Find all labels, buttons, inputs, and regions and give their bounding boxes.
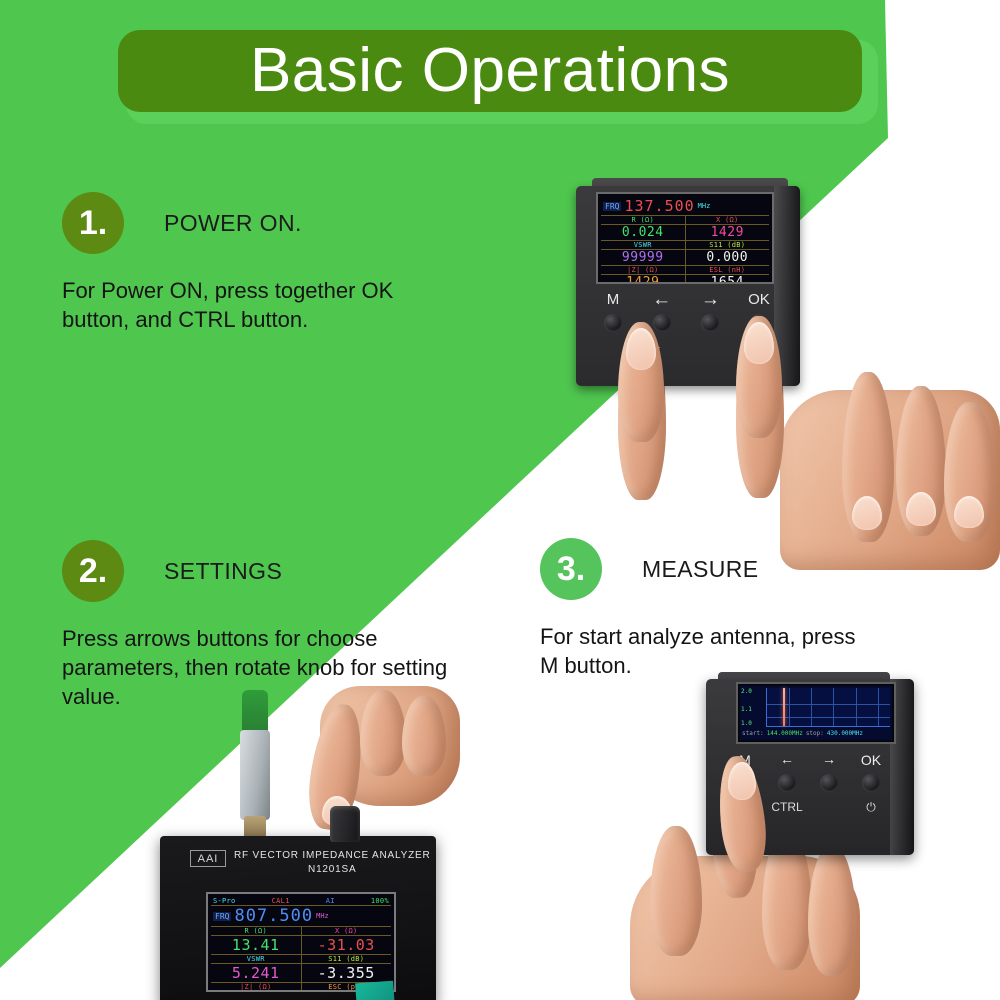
x-ohm-value: 1429 xyxy=(711,225,744,240)
label-cell: R (Ω) xyxy=(601,216,686,224)
step-1: 1. POWER ON. For Power ON, press togethe… xyxy=(62,192,442,334)
status-mode: S-Pro xyxy=(213,897,236,905)
r-ohm-value: 0.024 xyxy=(622,225,664,240)
value-cell: 1654 xyxy=(686,275,770,284)
rotary-knob[interactable] xyxy=(330,806,360,842)
gridline-h xyxy=(767,717,890,718)
device2-row1-values: 13.41 -31.03 xyxy=(211,936,391,955)
vswr-sweep-chart: 2.0 1.1 1.0 start: 144.000MHz stop: xyxy=(740,686,892,740)
label-cell: X (Ω) xyxy=(302,927,392,935)
step-1-header: 1. POWER ON. xyxy=(62,192,442,254)
fingernail xyxy=(728,762,756,800)
device1-lcd-grid: FRQ 137.500 MHz R (Ω) X (Ω) 0.024 1429 V… xyxy=(601,197,769,279)
device1-row2-labels: VSWR S11 (dB) xyxy=(601,241,769,250)
label-cell: |Z| (Ω) xyxy=(601,266,686,274)
value-cell: 1429 xyxy=(601,275,686,284)
page-title: Basic Operations xyxy=(250,40,730,102)
r-ohm-label: R (Ω) xyxy=(244,927,267,935)
freq-value: 137.500 xyxy=(624,197,694,215)
gridline-v xyxy=(833,688,834,726)
s11-label: S11 (dB) xyxy=(709,241,745,249)
z-ohm-label: |Z| (Ω) xyxy=(627,266,659,274)
finger-middle xyxy=(360,690,406,776)
device2-brand-text: RF VECTOR IMPEDANCE ANALYZER N1201SA xyxy=(234,849,431,877)
probe-green-boot xyxy=(242,690,268,734)
device1-freq-row: FRQ 137.500 MHz xyxy=(601,197,769,216)
esl-label: ESL (nH) xyxy=(709,266,745,274)
step-3-badge: 3. xyxy=(540,538,602,600)
label-cell: VSWR xyxy=(211,955,302,963)
z-ohm-label: |Z| (Ω) xyxy=(240,983,272,991)
label-cell: ESL (nH) xyxy=(686,266,770,274)
gridline-v xyxy=(856,688,857,726)
device2-freq-row: FRQ 807.500 MHz xyxy=(211,906,391,927)
label-cell: S11 (dB) xyxy=(686,241,770,249)
value-cell: 13.41 xyxy=(211,936,302,954)
value-cell: 5.241 xyxy=(211,964,302,982)
step-2-header: 2. SETTINGS xyxy=(62,540,452,602)
device1-freq-cell: FRQ 137.500 MHz xyxy=(601,197,769,215)
arrow-left-icon[interactable]: ← xyxy=(645,290,679,309)
value-cell: 0.024 xyxy=(601,225,686,240)
start-value: 144.000MHz xyxy=(767,730,803,737)
vswr-label: VSWR xyxy=(634,241,652,249)
device1-row3-values: 1429 1654 xyxy=(601,275,769,284)
device3-lcd-screen: 2.0 1.1 1.0 start: 144.000MHz stop: xyxy=(736,682,896,744)
device2-row2-labels: VSWR S11 (dB) xyxy=(211,955,391,964)
finger-ring xyxy=(402,696,446,776)
device1-row1-labels: R (Ω) X (Ω) xyxy=(601,216,769,225)
sweep-range-footer: start: 144.000MHz stop: 430.000MHz xyxy=(742,728,890,739)
button-ok-label[interactable]: OK xyxy=(742,291,776,308)
step-2-title: SETTINGS xyxy=(164,558,282,585)
gridline-v xyxy=(878,688,879,726)
esl-value: 1654 xyxy=(711,275,744,284)
r-ohm-value: 13.41 xyxy=(232,936,280,954)
label-cell: |Z| (Ω) xyxy=(211,983,302,991)
x-ohm-label: X (Ω) xyxy=(335,927,358,935)
analyzer-device-step2: AAI RF VECTOR IMPEDANCE ANALYZER N1201SA… xyxy=(160,836,436,1000)
step-1-body: For Power ON, press together OK button, … xyxy=(62,276,442,334)
device2-row2-values: 5.241 -3.355 xyxy=(211,964,391,983)
vswr-value: 5.241 xyxy=(232,964,280,982)
r-ohm-label: R (Ω) xyxy=(631,216,654,224)
button-right-knob[interactable] xyxy=(820,774,838,792)
value-cell: 1429 xyxy=(686,225,770,240)
device1-button-labels: M ← → OK xyxy=(596,290,776,309)
freq-tag: FRQ xyxy=(603,202,621,211)
power-icon[interactable]: ⏻ xyxy=(854,800,888,815)
device2-sticker xyxy=(355,981,395,1000)
freq-unit: MHz xyxy=(698,202,711,210)
s11-value: 0.000 xyxy=(706,250,748,265)
device1-lcd-screen: FRQ 137.500 MHz R (Ω) X (Ω) 0.024 1429 V… xyxy=(596,192,774,284)
status-ai: AI xyxy=(326,897,335,905)
y-tick-0: 1.0 xyxy=(741,720,752,727)
value-cell: 99999 xyxy=(601,250,686,265)
value-cell: -3.355 xyxy=(302,964,392,982)
button-m-label[interactable]: M xyxy=(596,291,630,308)
z-ohm-value: 1429 xyxy=(626,275,659,284)
device1-row3-labels: |Z| (Ω) ESL (nH) xyxy=(601,266,769,275)
gridline-v xyxy=(789,688,790,726)
button-ok[interactable] xyxy=(854,774,888,792)
device2-model: N1201SA xyxy=(234,863,431,877)
label-cell: X (Ω) xyxy=(686,216,770,224)
y-tick-2: 2.0 xyxy=(741,688,752,695)
step-2-badge: 2. xyxy=(62,540,124,602)
value-cell: 0.000 xyxy=(686,250,770,265)
value-cell: -31.03 xyxy=(302,936,392,954)
brand-logo: AAI xyxy=(190,850,226,867)
device2-row1-labels: R (Ω) X (Ω) xyxy=(211,927,391,936)
s11-value: -3.355 xyxy=(318,964,375,982)
vswr-label: VSWR xyxy=(247,955,265,963)
button-ok-knob[interactable] xyxy=(862,774,880,792)
device2-status-bar: S-Pro CAL1 AI 100% xyxy=(211,897,391,906)
label-cell: R (Ω) xyxy=(211,927,302,935)
gridline-v xyxy=(811,688,812,726)
fingernail xyxy=(852,496,882,530)
stop-label: stop: xyxy=(806,730,824,737)
y-tick-1: 1.1 xyxy=(741,706,752,713)
probe-sma-connector xyxy=(244,816,266,838)
infographic-stage: Basic Operations 1. POWER ON. For Power … xyxy=(0,0,1000,1000)
probe-connector-body xyxy=(240,730,270,820)
x-ohm-value: -31.03 xyxy=(318,936,375,954)
vswr-value: 99999 xyxy=(622,250,664,265)
sweep-plot-area xyxy=(766,688,890,727)
device1-row2-values: 99999 0.000 xyxy=(601,250,769,266)
pressing-fingers-overlay xyxy=(596,318,816,438)
title-banner: Basic Operations xyxy=(118,30,878,122)
stop-value: 430.000MHz xyxy=(827,730,863,737)
arrow-right-icon[interactable]: → xyxy=(693,290,727,309)
label-cell: VSWR xyxy=(601,241,686,249)
device2-lcd-screen: S-Pro CAL1 AI 100% FRQ 807.500 MHz R (Ω)… xyxy=(206,892,396,992)
fingernail xyxy=(906,492,936,526)
finger-overlay-m-button xyxy=(700,752,820,872)
label-cell: S11 (dB) xyxy=(302,955,392,963)
status-battery: 100% xyxy=(371,897,389,905)
step-1-title: POWER ON. xyxy=(164,210,302,237)
title-banner-body: Basic Operations xyxy=(118,30,862,112)
status-cal: CAL1 xyxy=(272,897,290,905)
step-1-badge: 1. xyxy=(62,192,124,254)
device1-row1-values: 0.024 1429 xyxy=(601,225,769,241)
freq-unit: MHz xyxy=(316,912,329,920)
device2-lcd-grid: S-Pro CAL1 AI 100% FRQ 807.500 MHz R (Ω)… xyxy=(211,897,391,987)
finger-thumb xyxy=(650,826,702,956)
x-ohm-label: X (Ω) xyxy=(716,216,739,224)
freq-tag: FRQ xyxy=(213,912,231,921)
s11-label: S11 (dB) xyxy=(328,955,364,963)
fingernail xyxy=(954,496,984,528)
gridline-h xyxy=(767,704,890,705)
device2-product-line: RF VECTOR IMPEDANCE ANALYZER xyxy=(234,850,431,861)
button-ok-label[interactable]: OK xyxy=(854,752,888,768)
device2-freq-cell: FRQ 807.500 MHz xyxy=(211,906,391,926)
start-label: start: xyxy=(742,730,764,737)
freq-value: 807.500 xyxy=(234,906,313,926)
sweep-trace-marker xyxy=(783,688,785,726)
